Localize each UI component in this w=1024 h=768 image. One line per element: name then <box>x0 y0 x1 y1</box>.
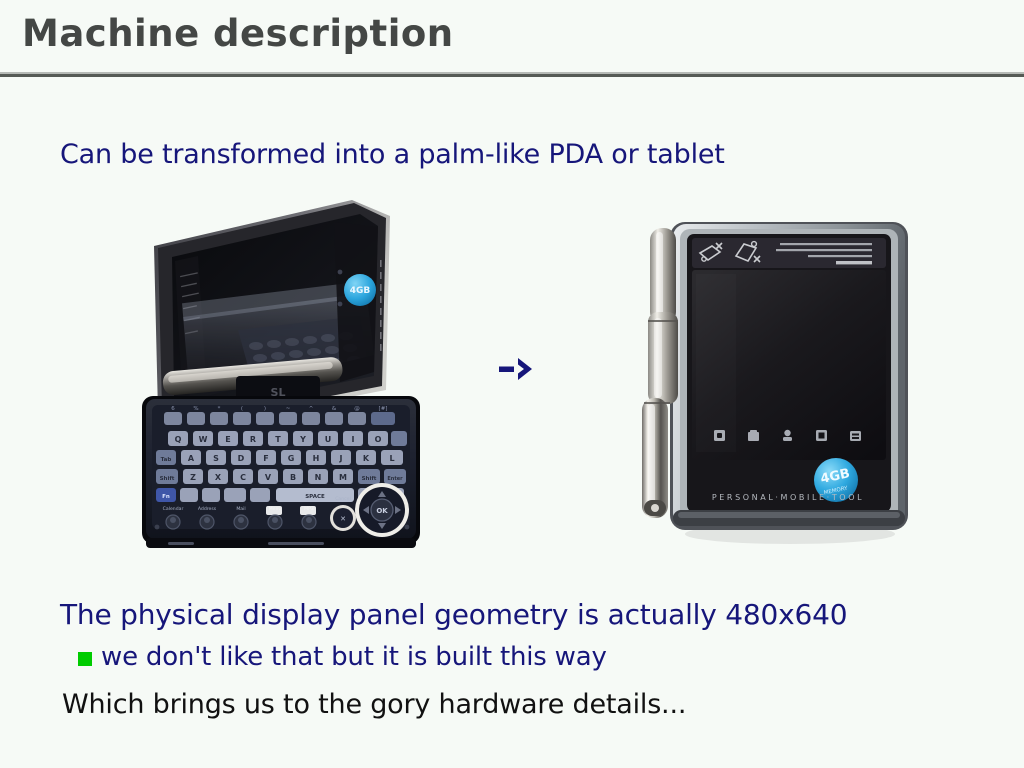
svg-text:%: % <box>193 406 198 412</box>
dpad-ok-label: OK <box>376 507 388 515</box>
svg-text:Shift: Shift <box>160 476 175 482</box>
intro-text: Can be transformed into a palm-like PDA … <box>60 139 725 170</box>
right-device-branding: PERSONAL·MOBILE·TOOL <box>712 493 864 502</box>
svg-text:&: & <box>332 406 337 412</box>
svg-text:L: L <box>389 454 394 463</box>
svg-text:~: ~ <box>286 406 291 412</box>
svg-text:D: D <box>238 454 245 463</box>
svg-text:J: J <box>339 454 343 463</box>
geometry-text: The physical display panel geometry is a… <box>60 598 847 631</box>
svg-text:): ) <box>264 406 266 412</box>
svg-text:Q: Q <box>175 435 182 444</box>
svg-text:A: A <box>188 454 195 463</box>
svg-text:^: ^ <box>309 406 314 412</box>
figure-closed-tablet-pda: 4GB MEMORY PERSONAL·MOBILE·TOOL <box>630 212 920 547</box>
svg-text:6: 6 <box>171 406 175 412</box>
svg-text:Fn: Fn <box>162 494 170 500</box>
svg-text:(: ( <box>241 406 243 412</box>
sub-bullet-label: we don't like that but it is built this … <box>101 642 607 672</box>
svg-text:M: M <box>339 473 347 482</box>
svg-text:W: W <box>199 435 208 444</box>
svg-text:N: N <box>315 473 322 482</box>
svg-text:B: B <box>290 473 296 482</box>
svg-text:S: S <box>213 454 219 463</box>
svg-text:V: V <box>265 473 272 482</box>
svg-text:Shift: Shift <box>362 476 377 482</box>
figure-open-clamshell-pda: 4GB SL <box>128 200 433 555</box>
page-title: Machine description <box>22 12 454 55</box>
title-divider <box>0 72 1024 77</box>
keyboard-row-qwerty: QW ER TY UI O <box>168 431 407 446</box>
svg-text:Z: Z <box>190 473 196 482</box>
svg-text:[#]: [#] <box>379 406 388 412</box>
square-bullet-icon <box>78 652 92 666</box>
svg-text:U: U <box>325 435 332 444</box>
svg-text:Calendar: Calendar <box>163 506 184 512</box>
title-divider-dark <box>0 74 1024 77</box>
svg-text:I: I <box>352 435 355 444</box>
svg-text:Enter: Enter <box>387 476 403 482</box>
svg-text:*: * <box>218 406 221 412</box>
svg-text:Mail: Mail <box>236 506 245 512</box>
svg-text:C: C <box>240 473 246 482</box>
svg-text:Y: Y <box>299 435 306 444</box>
svg-text:O: O <box>375 435 382 444</box>
svg-text:Tab: Tab <box>161 457 172 463</box>
svg-text:E: E <box>225 435 230 444</box>
svg-text:F: F <box>263 454 268 463</box>
svg-text:T: T <box>275 435 281 444</box>
dpad-control: OK <box>355 483 409 537</box>
svg-text:Address: Address <box>198 506 217 512</box>
left-device-badge-label: 4GB <box>350 286 371 296</box>
svg-text:H: H <box>313 454 320 463</box>
svg-text:R: R <box>250 435 256 444</box>
svg-text:X: X <box>215 473 222 482</box>
svg-text:G: G <box>288 454 295 463</box>
svg-text:SPACE: SPACE <box>305 494 325 500</box>
right-arrow-icon <box>497 352 545 386</box>
closing-text: Which brings us to the gory hardware det… <box>62 689 686 720</box>
svg-text:@: @ <box>354 406 360 412</box>
cancel-button-label: Cancel <box>335 496 351 502</box>
svg-text:✕: ✕ <box>340 515 346 523</box>
svg-text:K: K <box>363 454 370 463</box>
sub-bullet-item: we don't like that but it is built this … <box>78 642 607 672</box>
